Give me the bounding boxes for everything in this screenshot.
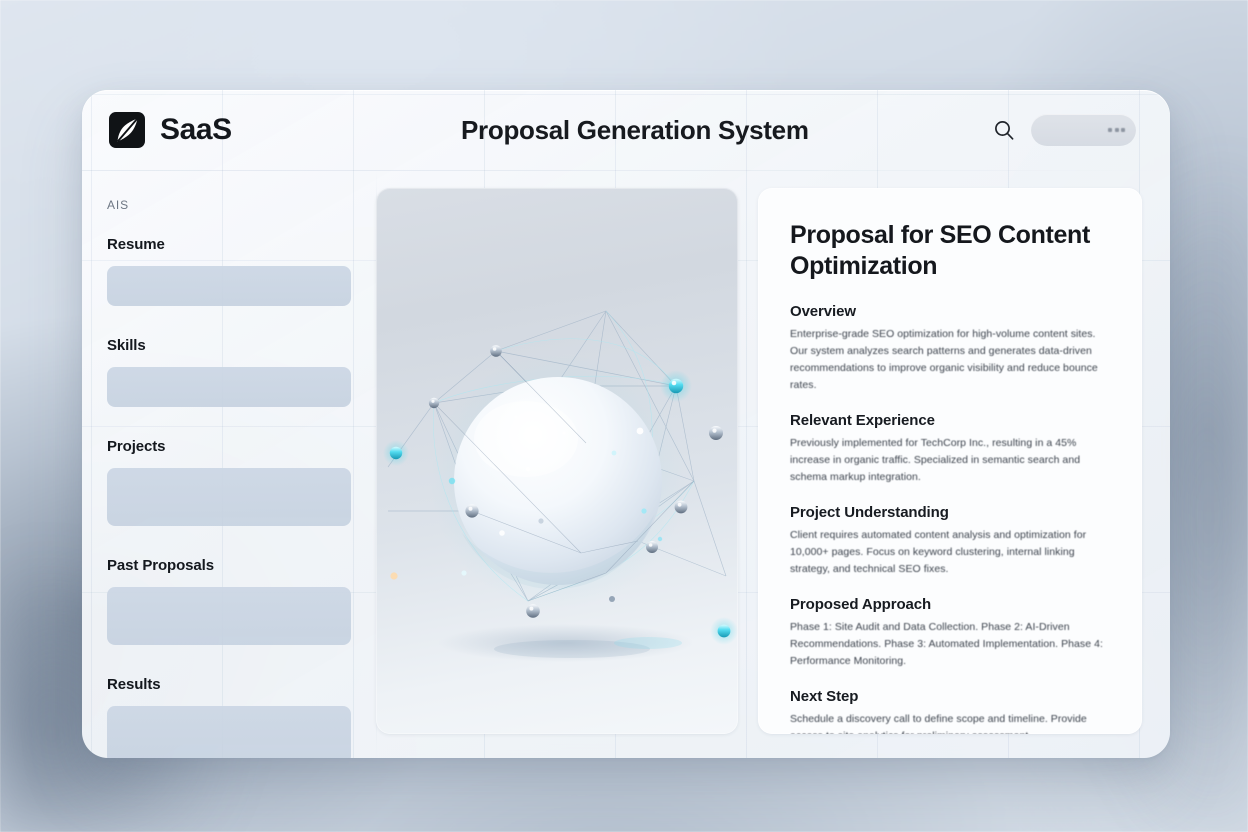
- brand-logo[interactable]: SaaS: [82, 110, 376, 150]
- generated-proposal-document: Proposal for SEO Content Optimization Ov…: [758, 188, 1142, 734]
- section-heading-project-understanding: Project Understanding: [790, 504, 1108, 521]
- network-graphic: [376, 188, 738, 734]
- sidebar-eyebrow: AIS: [107, 198, 351, 212]
- section-body-proposed-approach: Phase 1: Site Audit and Data Collection.…: [790, 619, 1108, 670]
- user-account-pill[interactable]: [1031, 114, 1136, 146]
- sidebar-placeholder-past-proposals[interactable]: [107, 587, 351, 645]
- section-heading-proposed-approach: Proposed Approach: [790, 596, 1108, 613]
- sidebar-item-label-resume: Resume: [107, 236, 351, 253]
- sidebar-item-label-skills: Skills: [107, 337, 351, 354]
- sidebar-group-results: Results: [107, 676, 351, 758]
- ai-network-sphere-illustration: [376, 188, 738, 734]
- sidebar-placeholder-results[interactable]: [107, 706, 351, 758]
- section-heading-overview: Overview: [790, 303, 1108, 320]
- section-heading-next-step: Next Step: [790, 688, 1108, 705]
- sidebar: AIS Resume Skills Projects Past Proposal…: [82, 170, 376, 758]
- document-title: Proposal for SEO Content Optimization: [790, 220, 1090, 281]
- header-actions: [993, 114, 1170, 146]
- page-title: Proposal Generation System: [461, 115, 809, 146]
- leaf-logo-icon: [107, 110, 147, 150]
- document-section-overview: Overview Enterprise-grade SEO optimizati…: [790, 303, 1108, 394]
- app-header: SaaS Proposal Generation System: [82, 90, 1170, 170]
- sidebar-group-resume: Resume: [107, 236, 351, 306]
- search-icon[interactable]: [993, 119, 1015, 141]
- sidebar-group-projects: Projects: [107, 438, 351, 526]
- sidebar-item-label-past-proposals: Past Proposals: [107, 557, 351, 574]
- sidebar-item-label-results: Results: [107, 676, 351, 693]
- more-options-icon[interactable]: [1108, 128, 1125, 132]
- document-section-next-step: Next Step Schedule a discovery call to d…: [790, 688, 1108, 734]
- sidebar-group-past-proposals: Past Proposals: [107, 557, 351, 645]
- sidebar-placeholder-projects[interactable]: [107, 468, 351, 526]
- sidebar-placeholder-resume[interactable]: [107, 266, 351, 306]
- content-area: Proposal for SEO Content Optimization Ov…: [376, 170, 1170, 758]
- section-body-overview: Enterprise-grade SEO optimization for hi…: [790, 326, 1108, 394]
- document-section-project-understanding: Project Understanding Client requires au…: [790, 504, 1108, 578]
- section-body-next-step: Schedule a discovery call to define scop…: [790, 711, 1108, 734]
- document-section-relevant-experience: Relevant Experience Previously implement…: [790, 412, 1108, 486]
- user-pill-label: [1044, 125, 1104, 136]
- section-heading-relevant-experience: Relevant Experience: [790, 412, 1108, 429]
- section-body-project-understanding: Client requires automated content analys…: [790, 527, 1108, 578]
- sidebar-item-label-projects: Projects: [107, 438, 351, 455]
- app-window: SaaS Proposal Generation System AIS Resu…: [82, 90, 1170, 758]
- sidebar-placeholder-skills[interactable]: [107, 367, 351, 407]
- section-body-relevant-experience: Previously implemented for TechCorp Inc.…: [790, 435, 1108, 486]
- brand-name: SaaS: [160, 113, 232, 147]
- sidebar-group-skills: Skills: [107, 337, 351, 407]
- document-section-proposed-approach: Proposed Approach Phase 1: Site Audit an…: [790, 596, 1108, 670]
